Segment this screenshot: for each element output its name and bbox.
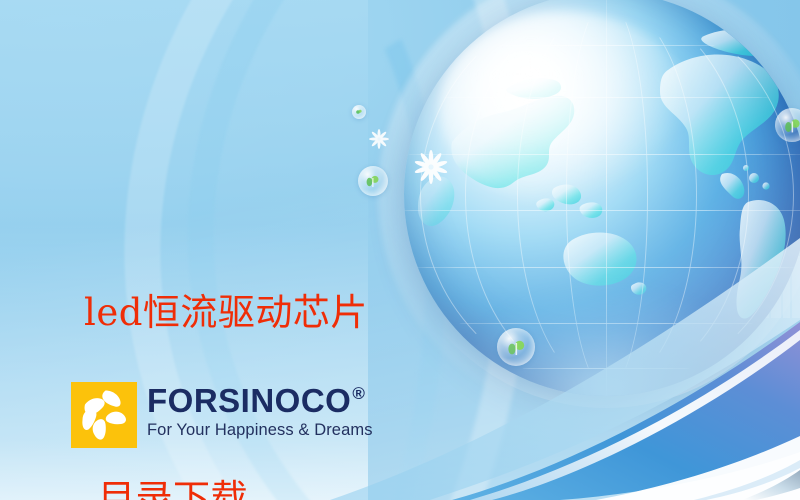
hero-banner: led恒流驱动芯片 目录下载 FORSINOCO ® For Your Happ… [0,0,800,500]
page-title: led恒流驱动芯片 目录下载 [84,158,368,500]
brand-logo[interactable]: FORSINOCO ® For Your Happiness & Dreams [71,382,373,448]
forsinoco-pinwheel-icon [71,382,137,448]
bubble-sprout-tiny [352,105,366,119]
brand-logo-text: FORSINOCO ® For Your Happiness & Dreams [147,382,373,440]
headline-line-1: led恒流驱动芯片 [84,282,368,344]
brand-wordmark: FORSINOCO ® [147,384,373,418]
headline-line-2: 目录下载 [84,468,368,500]
brand-name: FORSINOCO [147,384,351,418]
daisy-flower-small-icon [368,128,390,150]
daisy-flower-large-icon [412,148,450,186]
registered-trademark-icon: ® [352,385,365,402]
bubble-sprout-bottom [497,328,535,366]
brand-tagline: For Your Happiness & Dreams [147,421,373,440]
